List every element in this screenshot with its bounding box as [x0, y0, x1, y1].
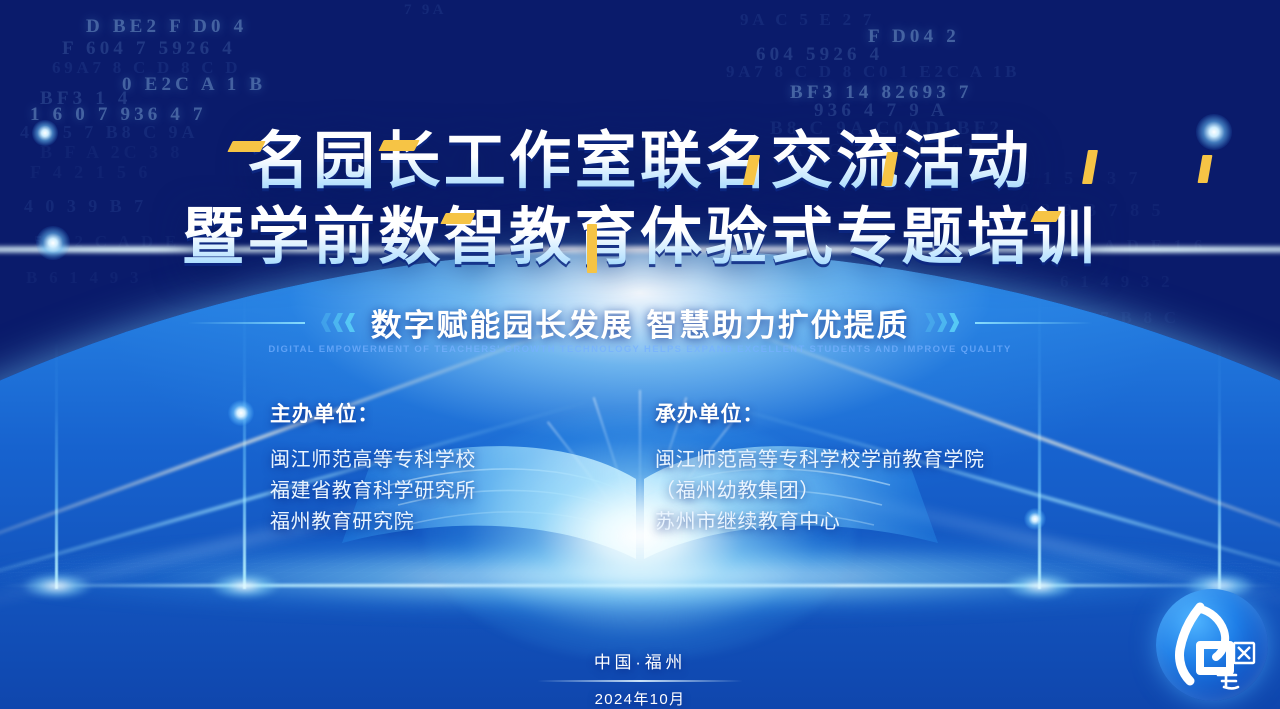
organizer-cohost-block: 承办单位： 闽江师范高等专科学校学前教育学院 （福州幼教集团） 苏州市继续教育中…: [655, 398, 985, 538]
subtitle-english: DIGITAL EMPOWERMENT OF TEACHERS' GROWTH …: [0, 344, 1280, 355]
glow-dot-icon: [228, 400, 254, 426]
cohost-item: 闽江师范高等专科学校学前教育学院: [655, 445, 985, 476]
poster-subtitle-row: 数字赋能园长发展 智慧助力扩优提质: [0, 300, 1280, 345]
poster-title: 名园长工作室联名交流活动 暨学前数智教育体验式专题培训: [0, 128, 1280, 269]
subtitle-rule-right: [975, 322, 1093, 324]
host-item: 福州教育研究院: [270, 507, 476, 538]
organizer-host-block: 主办单位： 闽江师范高等专科学校 福建省教育科学研究所 福州教育研究院: [270, 398, 476, 538]
brand-logo: [1156, 589, 1268, 701]
title-line-2: 暨学前数智教育体验式专题培训: [0, 204, 1280, 270]
poster-canvas: 7 9AD BE2 F D0 4F 604 7 5926 469A7 8 C D…: [0, 0, 1280, 709]
footer-divider: [537, 680, 743, 682]
chevron-left-icon: [321, 313, 355, 332]
title-line-1: 名园长工作室联名交流活动: [0, 128, 1280, 194]
cohost-item: （福州幼教集团）: [655, 476, 985, 507]
cohost-heading: 承办单位：: [655, 398, 985, 428]
subtitle-text: 数字赋能园长发展 智慧助力扩优提质: [371, 300, 909, 345]
host-item: 闽江师范高等专科学校: [270, 445, 476, 476]
cohost-item: 苏州市继续教育中心: [655, 507, 985, 538]
host-item: 福建省教育科学研究所: [270, 476, 476, 507]
chevron-right-icon: [925, 313, 959, 332]
poster-footer: 中国·福州 2024年10月: [0, 648, 1280, 709]
subtitle-rule-left: [187, 322, 305, 324]
footer-date: 2024年10月: [0, 688, 1280, 709]
host-heading: 主办单位：: [270, 398, 476, 428]
footer-place: 中国·福州: [0, 648, 1280, 673]
